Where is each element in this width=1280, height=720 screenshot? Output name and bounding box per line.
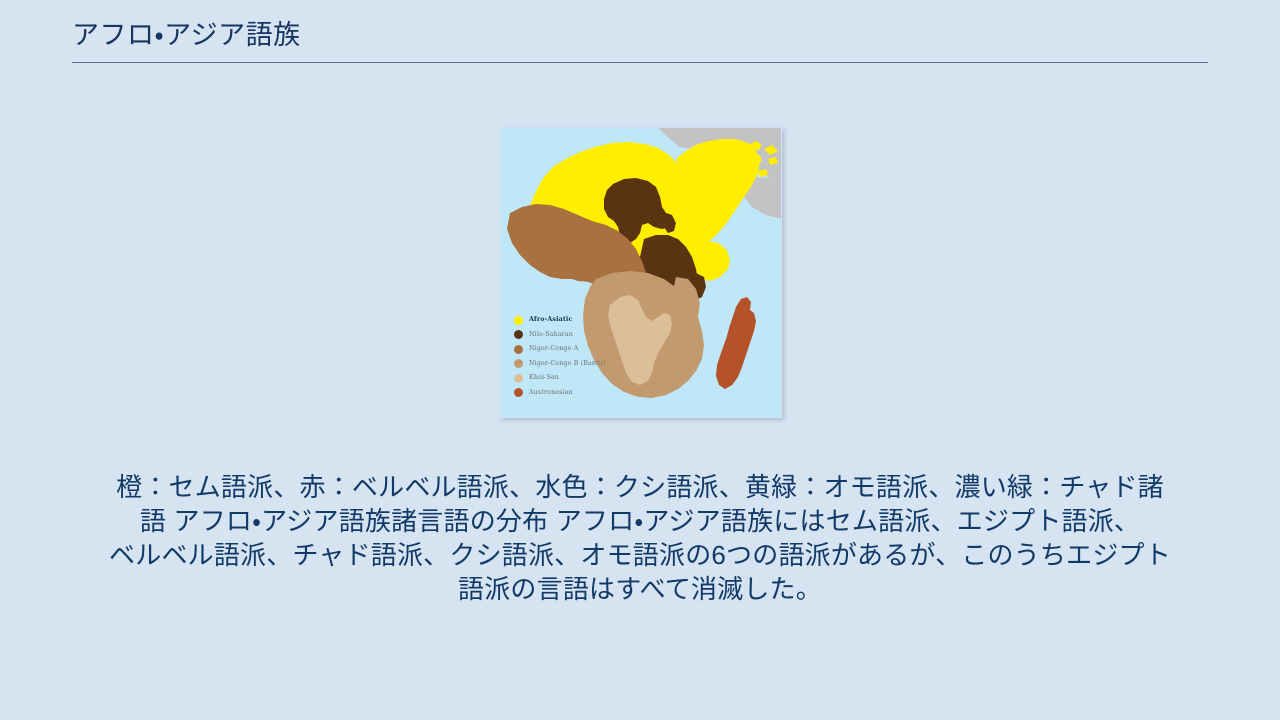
- legend-item-khoi-san: Khoi-San: [514, 371, 644, 386]
- legend-label-nilo-saharan: Nilo-Saharan: [529, 331, 573, 339]
- legend-item-nilo-saharan: Nilo-Saharan: [514, 328, 644, 343]
- legend-label-khoi-san: Khoi-San: [529, 374, 559, 382]
- caption-line-2: 語 アフロ・アジア語族諸言語の分布 アフロ・アジア語族にはセム語派、エジプト語派…: [24, 504, 1256, 538]
- caption-line-1: 橙：セム語派、赤：ベルベル語派、水色：クシ語派、黄緑：オモ語派、濃い緑：チャド諸: [24, 470, 1256, 504]
- slide-root: アフロ・アジア語族: [0, 0, 1280, 720]
- legend-item-niger-congo-a: Niger-Congo A: [514, 342, 644, 357]
- legend-swatch-austronesian: [514, 388, 523, 397]
- caption-block: 橙：セム語派、赤：ベルベル語派、水色：クシ語派、黄緑：オモ語派、濃い緑：チャド諸…: [24, 470, 1256, 606]
- legend-swatch-niger-congo-a: [514, 345, 523, 354]
- page-title: アフロ・アジア語族: [72, 18, 1208, 52]
- map-image: Afro-Asiatic Nilo-Saharan Niger-Congo A …: [500, 127, 782, 418]
- legend-label-afro-asiatic: Afro-Asiatic: [529, 316, 572, 324]
- title-block: アフロ・アジア語族: [72, 18, 1208, 66]
- legend-item-austronesian: Austronesian: [514, 386, 644, 401]
- map-legend: Afro-Asiatic Nilo-Saharan Niger-Congo A …: [514, 313, 644, 400]
- legend-item-niger-congo-b: Niger-Congo B (Bantu): [514, 357, 644, 372]
- legend-item-afro-asiatic: Afro-Asiatic: [514, 313, 644, 328]
- legend-label-niger-congo-a: Niger-Congo A: [529, 345, 578, 353]
- legend-label-niger-congo-b: Niger-Congo B (Bantu): [529, 360, 606, 368]
- legend-label-austronesian: Austronesian: [529, 389, 573, 397]
- legend-swatch-afro-asiatic: [514, 316, 523, 325]
- legend-swatch-nilo-saharan: [514, 330, 523, 339]
- legend-swatch-niger-congo-b: [514, 359, 523, 368]
- caption-line-3: ベルベル語派、チャド語派、クシ語派、オモ語派の6つの語派があるが、このうちエジプ…: [24, 538, 1256, 572]
- caption-line-4: 語派の言語はすべて消滅した。: [24, 572, 1256, 606]
- title-divider: [72, 62, 1208, 63]
- legend-swatch-khoi-san: [514, 374, 523, 383]
